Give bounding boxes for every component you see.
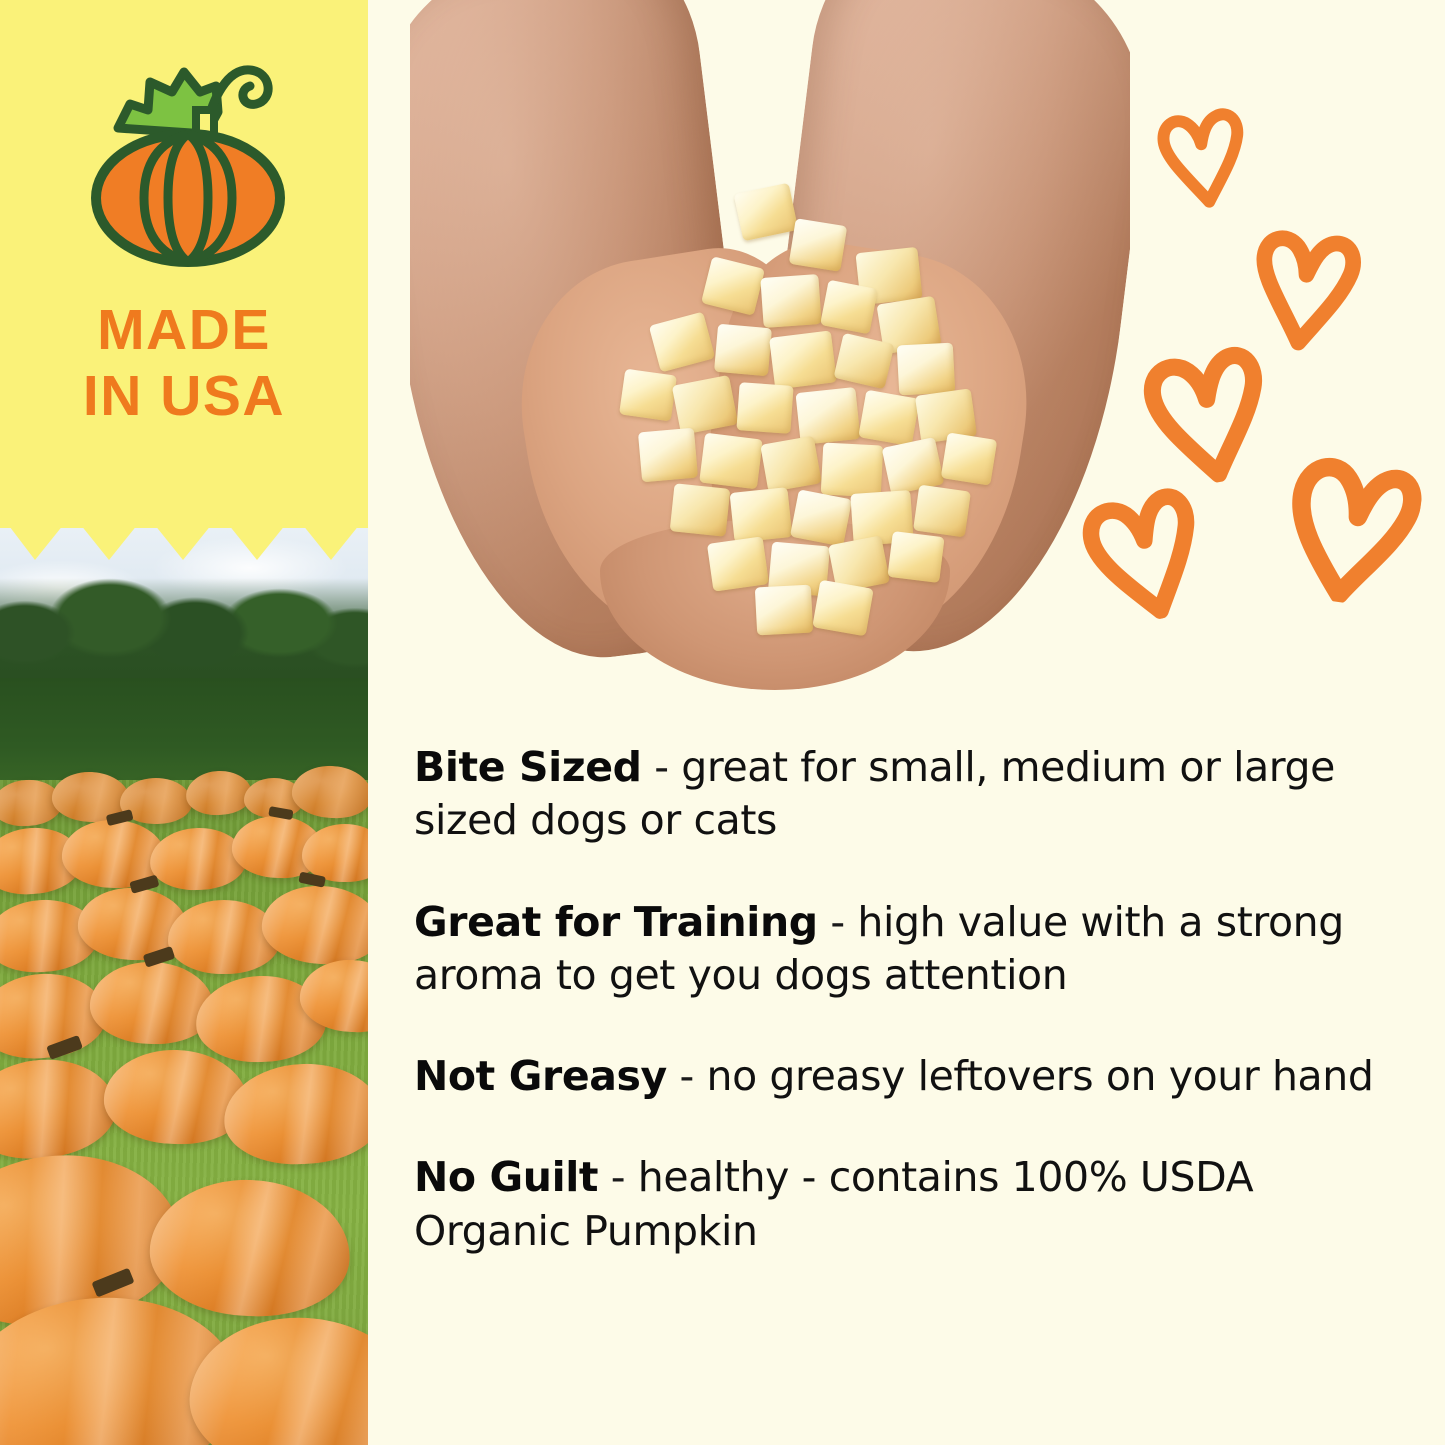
heart-4-icon xyxy=(1071,475,1218,634)
pumpkin-treat-cube xyxy=(858,390,920,447)
feature-title: Not Greasy xyxy=(414,1052,667,1100)
feature-separator: - xyxy=(818,898,858,946)
pumpkin-treat-cube xyxy=(730,487,793,543)
pumpkin-icon xyxy=(88,52,288,267)
feature-not-greasy: Not Greasy - no greasy leftovers on your… xyxy=(414,1050,1399,1103)
pumpkin-treat-cube xyxy=(897,343,956,396)
heart-1-icon xyxy=(1150,99,1256,215)
feature-separator: - xyxy=(667,1052,707,1100)
heart-2-icon xyxy=(1242,219,1367,356)
pumpkin-treat-cube xyxy=(941,432,998,485)
pumpkin-treat-cube xyxy=(789,218,848,272)
pumpkin-treat-cube xyxy=(821,442,884,497)
badge-line-2: IN USA xyxy=(0,364,368,430)
pumpkin-treat-cube xyxy=(699,433,763,490)
pumpkin-treat-cube xyxy=(820,280,878,335)
feature-title: Bite Sized xyxy=(414,743,642,791)
pumpkin-treat-cube xyxy=(913,485,971,538)
made-in-usa-text: MADE IN USA xyxy=(0,298,368,429)
pumpkin-patch-photo xyxy=(0,528,368,1445)
hands-holding-treats-photo xyxy=(410,0,1130,690)
feature-separator: - xyxy=(642,743,682,791)
pumpkin-treat-cube xyxy=(812,580,874,637)
photo-pumpkin xyxy=(168,900,280,974)
left-column: MADE IN USA xyxy=(0,0,368,1445)
heart-3-icon xyxy=(1136,335,1280,492)
product-feature-poster: MADE IN USA xyxy=(0,0,1445,1445)
badge-line-1: MADE xyxy=(0,298,368,364)
feature-separator: - xyxy=(598,1153,638,1201)
feature-body: no greasy leftovers on your hand xyxy=(707,1052,1374,1100)
pumpkin-treat-cube xyxy=(790,489,852,546)
feature-great-for-training: Great for Training - high value with a s… xyxy=(414,896,1399,1003)
pumpkin-treat-cube xyxy=(755,585,813,636)
pumpkin-treat-cube xyxy=(638,428,698,483)
pumpkin-treat-cube xyxy=(760,436,822,493)
feature-bite-sized: Bite Sized - great for small, medium or … xyxy=(414,741,1399,848)
feature-no-guilt: No Guilt - healthy - contains 100% USDA … xyxy=(414,1151,1399,1258)
feature-list: Bite Sized - great for small, medium or … xyxy=(414,700,1399,1258)
pumpkin-treat-cube xyxy=(619,369,677,422)
pumpkin-treat-cube xyxy=(736,382,793,434)
pumpkin-treat-cube xyxy=(760,274,821,328)
feature-title: No Guilt xyxy=(414,1153,598,1201)
heart-5-icon xyxy=(1275,445,1427,612)
made-in-usa-badge-panel: MADE IN USA xyxy=(0,0,368,560)
feature-title: Great for Training xyxy=(414,898,818,946)
decorative-hearts-group xyxy=(1085,95,1445,655)
zigzag-divider xyxy=(0,508,368,564)
pumpkin-treat-cube xyxy=(707,536,769,591)
pumpkin-treat-cube xyxy=(670,483,731,537)
pumpkin-treat-cube xyxy=(769,330,837,389)
pumpkin-treat-cube xyxy=(887,531,944,583)
pumpkin-treat-cube xyxy=(714,324,772,377)
